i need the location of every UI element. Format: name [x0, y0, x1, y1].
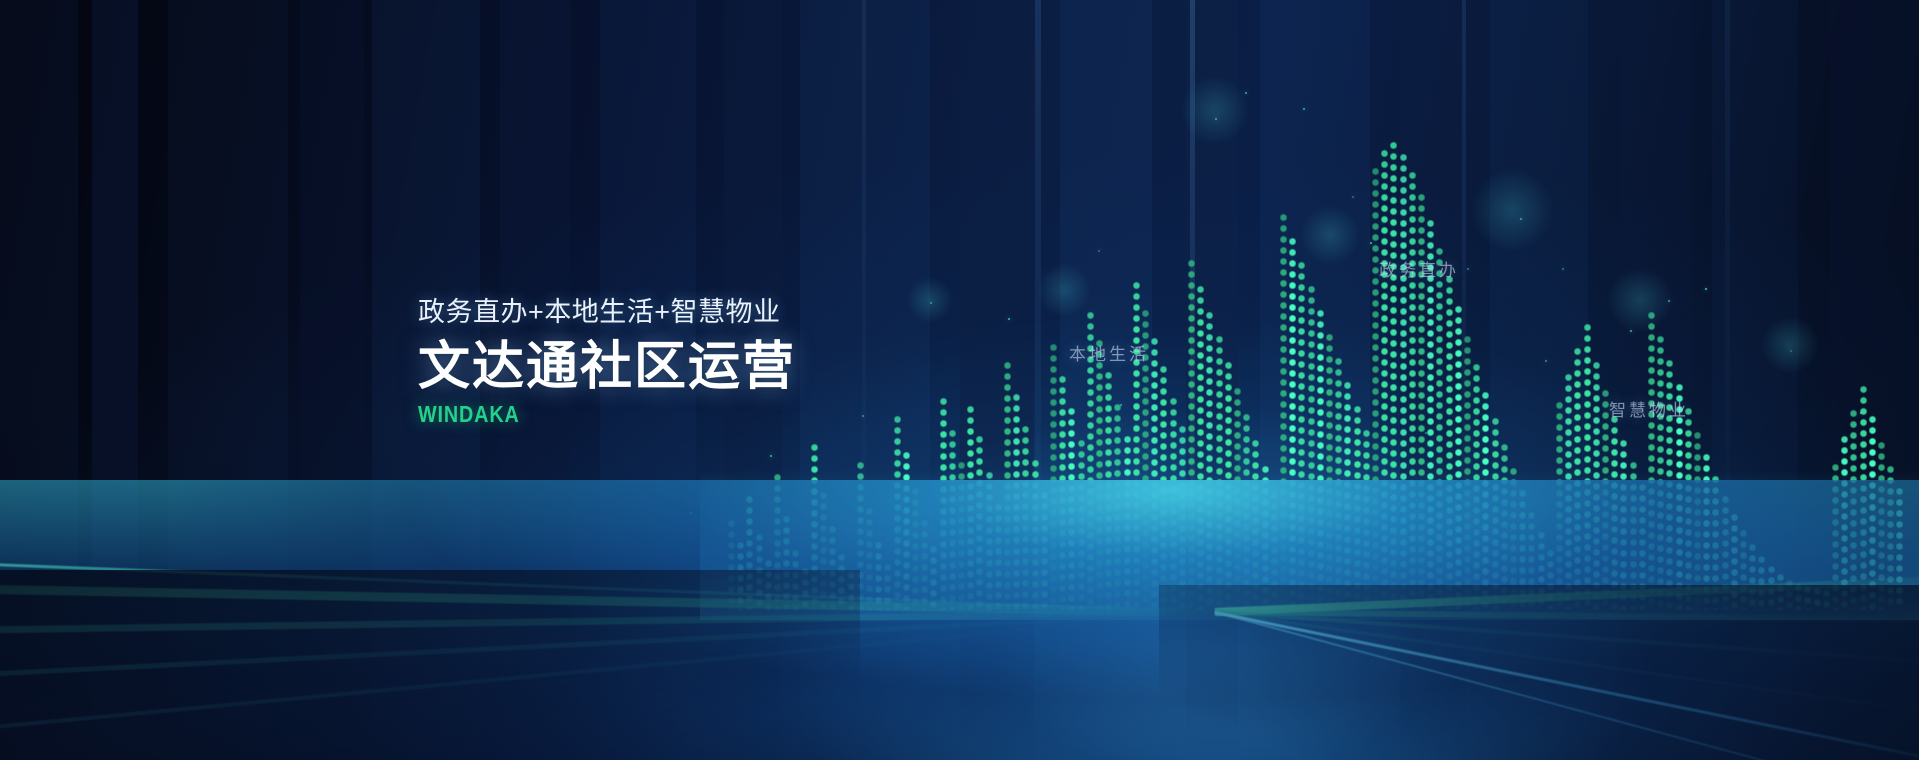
sky-particle: [1290, 330, 1292, 332]
sky-particle: [1120, 404, 1122, 406]
perspective-ground: [0, 470, 1919, 760]
hero-tagline: 政务直办+本地生活+智慧物业: [418, 296, 796, 330]
hero-brand-wordmark: WINDAKA: [418, 403, 743, 426]
foreground-shadow-left: [0, 570, 860, 760]
particle-glow: [1607, 267, 1673, 333]
floating-label-3: 智慧物业: [1609, 396, 1689, 421]
particle-glow: [1037, 263, 1091, 317]
particle-glow: [1470, 168, 1554, 252]
floating-label-1: 政务直办: [1379, 256, 1459, 281]
hero-banner: 政务直办本地生活智慧物业 政务直办+本地生活+智慧物业 文达通社区运营 WIND…: [0, 0, 1919, 760]
floating-label-2: 本地生活: [1069, 340, 1149, 365]
particle-glow: [1180, 75, 1250, 145]
foreground-shadow-right: [1159, 585, 1919, 760]
sky-particle: [1370, 242, 1372, 244]
sky-particle: [1860, 412, 1862, 414]
hero-title: 文达通社区运营: [418, 338, 796, 396]
sky-particle: [1098, 250, 1100, 252]
sky-particle: [1562, 268, 1564, 270]
hero-copy-block: 政务直办+本地生活+智慧物业 文达通社区运营 WINDAKA: [418, 296, 796, 426]
sky-particle: [770, 455, 772, 457]
sky-particle: [1705, 288, 1707, 290]
particle-glow: [907, 277, 953, 323]
particle-glow: [1300, 205, 1360, 265]
sky-particle: [862, 415, 864, 417]
sky-particle: [1425, 432, 1427, 434]
sky-particle: [1303, 108, 1305, 110]
sky-particle: [1467, 268, 1469, 270]
particle-glow: [1761, 316, 1819, 374]
sky-particle: [1545, 360, 1547, 362]
sky-particle: [1352, 196, 1354, 198]
sky-particle: [1008, 318, 1010, 320]
